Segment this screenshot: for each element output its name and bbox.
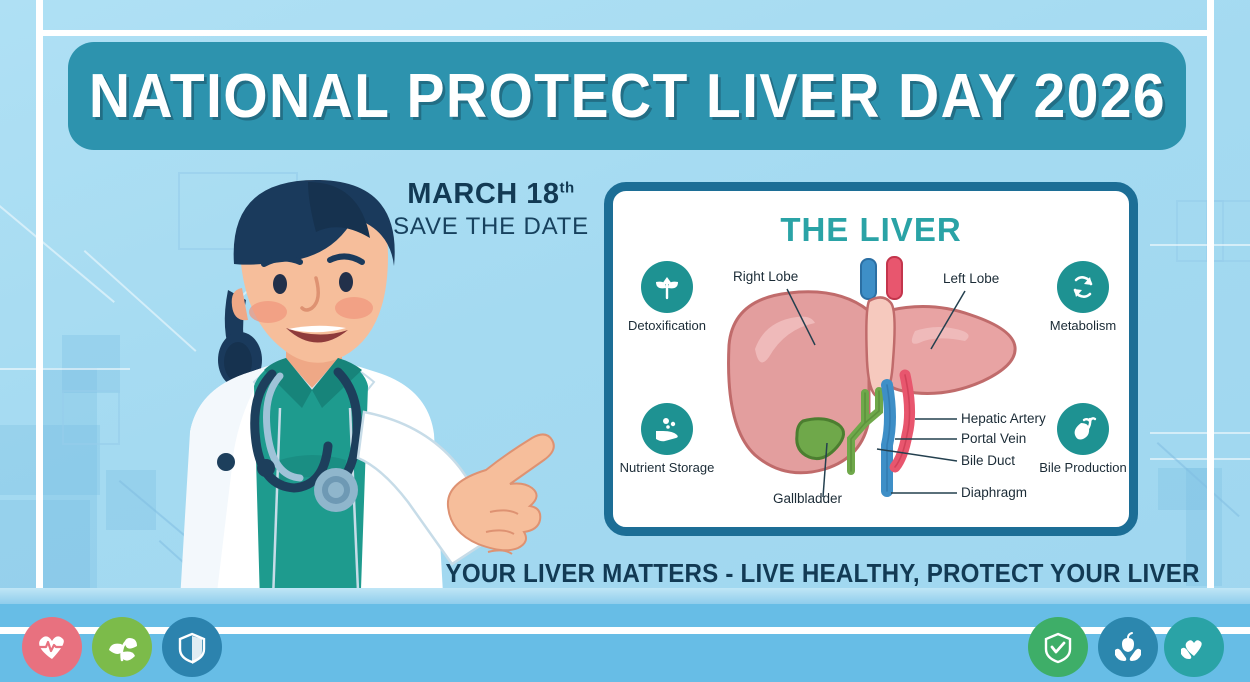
heart-pulse-icon xyxy=(35,630,69,664)
leaf-sprout-icon xyxy=(641,261,693,313)
badge-plant-leaves[interactable] xyxy=(92,617,152,677)
poster-title: NATIONAL PROTECT LIVER DAY 2026 xyxy=(88,61,1165,132)
feature-label: Nutrient Storage xyxy=(607,460,727,475)
frame-right xyxy=(1207,0,1214,682)
annotation-diaphragm: Diaphragm xyxy=(961,485,1027,500)
feature-metabolism: Metabolism xyxy=(1023,261,1143,333)
bg-line xyxy=(1150,432,1250,434)
bg-line xyxy=(1150,458,1250,460)
shield-check-icon xyxy=(1041,630,1075,664)
feature-detoxification: Detoxification xyxy=(607,261,727,333)
frame-top xyxy=(36,30,1214,36)
liver-info-card: THE LIVER Detoxification xyxy=(604,182,1138,536)
hand-nutrients-icon xyxy=(641,403,693,455)
bg-shape xyxy=(62,335,120,393)
band-gradient xyxy=(0,588,1250,604)
recycle-arrows-icon xyxy=(1057,261,1109,313)
bg-line xyxy=(1150,244,1250,246)
plant-leaves-icon xyxy=(105,630,139,664)
card-title: THE LIVER xyxy=(613,211,1129,249)
hands-heart-icon xyxy=(1177,630,1211,664)
frame-left xyxy=(36,0,43,682)
feature-nutrient-storage: Nutrient Storage xyxy=(607,403,727,475)
annotation-hepatic-artery: Hepatic Artery xyxy=(961,411,1046,426)
badge-hands-apple[interactable] xyxy=(1098,617,1158,677)
badge-shield-check[interactable] xyxy=(1028,617,1088,677)
feature-label: Detoxification xyxy=(607,318,727,333)
hands-apple-icon xyxy=(1111,630,1145,664)
poster-root: NATIONAL PROTECT LIVER DAY 2026 MARCH 18… xyxy=(0,0,1250,682)
annotation-bile-duct: Bile Duct xyxy=(961,453,1015,468)
bg-line xyxy=(0,368,130,370)
annotation-left-lobe: Left Lobe xyxy=(943,271,999,286)
feature-label: Metabolism xyxy=(1023,318,1143,333)
tagline: YOUR LIVER MATTERS - LIVE HEALTHY, PROTE… xyxy=(446,558,1125,589)
feature-label: Bile Production xyxy=(1023,460,1143,475)
title-banner: NATIONAL PROTECT LIVER DAY 2026 xyxy=(68,42,1186,150)
annotation-portal-vein: Portal Vein xyxy=(961,431,1026,446)
annotation-gallbladder: Gallbladder xyxy=(773,491,842,506)
annotation-right-lobe: Right Lobe xyxy=(733,269,798,284)
badge-heart-pulse[interactable] xyxy=(22,617,82,677)
bg-shape xyxy=(62,390,120,445)
badge-hands-heart[interactable] xyxy=(1164,617,1224,677)
shield-icon xyxy=(175,630,209,664)
bg-shape xyxy=(106,470,156,530)
gallbladder-icon xyxy=(1057,403,1109,455)
badge-shield[interactable] xyxy=(162,617,222,677)
